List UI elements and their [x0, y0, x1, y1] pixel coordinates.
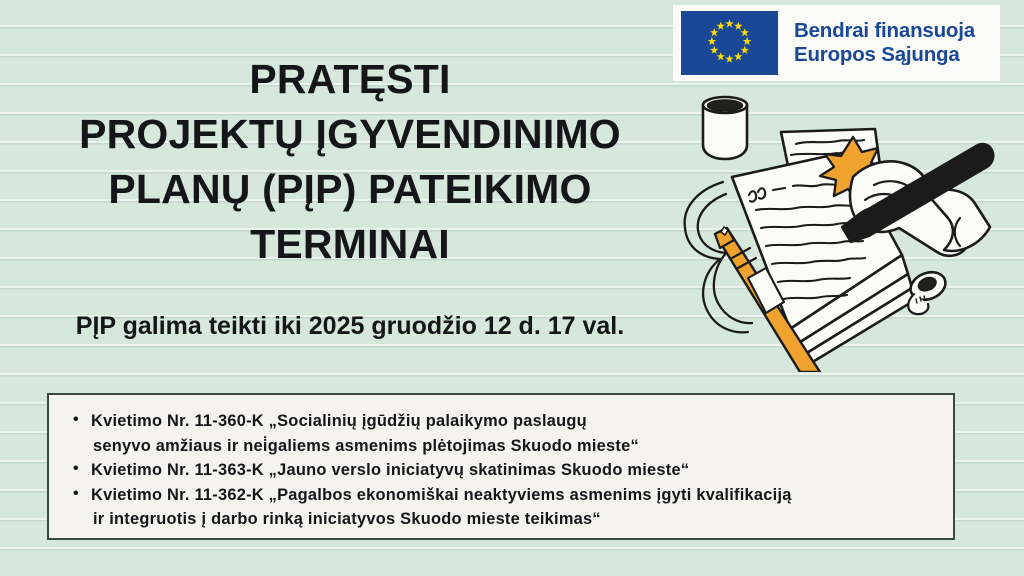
- calls-bullet-list: Kvietimo Nr. 11-360-K „Socialinių įgūdži…: [73, 409, 935, 532]
- coffee-cup-icon: [703, 97, 747, 159]
- page-title-line4: TERMINAI: [30, 217, 670, 272]
- list-item-line1: Kvietimo Nr. 11-363-K „Jauno verslo inic…: [91, 461, 689, 479]
- list-item-line2: ir integruotis į darbo rinką iniciatyvos…: [93, 507, 935, 532]
- eu-logo-text-line2: Europos Sąjunga: [794, 43, 975, 67]
- orange-pen: [715, 227, 820, 372]
- tape-measure: [906, 267, 949, 314]
- list-item: Kvietimo Nr. 11-362-K „Pagalbos ekonomiš…: [73, 483, 935, 532]
- slide-canvas: Bendrai finansuoja Europos Sąjunga PRATĘ…: [0, 0, 1024, 576]
- list-item-line1: Kvietimo Nr. 11-360-K „Socialinių įgūdži…: [91, 412, 587, 430]
- list-item: Kvietimo Nr. 11-360-K „Socialinių įgūdži…: [73, 409, 935, 458]
- eu-logo-text-line1: Bendrai finansuoja: [794, 19, 975, 43]
- page-title: PRATĘSTI PROJEKTŲ ĮGYVENDINIMO PLANŲ (PĮ…: [30, 52, 670, 272]
- open-notebook: [732, 152, 915, 366]
- calls-info-box: Kvietimo Nr. 11-360-K „Socialinių įgūdži…: [47, 393, 955, 540]
- eu-cofunded-logo: Bendrai finansuoja Europos Sąjunga: [673, 5, 1000, 81]
- paper-sheet: [781, 129, 882, 190]
- page-title-line1: PRATĘSTI: [30, 52, 670, 107]
- page-title-line3: PLANŲ (PĮP) PATEIKIMO: [30, 162, 670, 217]
- hand: [850, 161, 990, 255]
- orange-star-burst: [820, 137, 887, 202]
- hand-writing-in-notebook-illustration: [660, 82, 1024, 372]
- notebook-spiral: [685, 182, 752, 332]
- eu-logo-text: Bendrai finansuoja Europos Sąjunga: [794, 19, 975, 67]
- list-item-line1: Kvietimo Nr. 11-362-K „Pagalbos ekonomiš…: [91, 486, 792, 504]
- black-pen: [842, 144, 993, 242]
- deadline-text: PĮP galima teikti iki 2025 gruodžio 12 d…: [30, 310, 670, 342]
- eu-flag-icon: [681, 11, 778, 75]
- list-item-line2: senyvo amžiaus ir nei̇galiems asmenims p…: [93, 434, 935, 459]
- page-title-line2: PROJEKTŲ ĮGYVENDINIMO: [30, 107, 670, 162]
- list-item: Kvietimo Nr. 11-363-K „Jauno verslo inic…: [73, 458, 935, 483]
- handwriting-lines: [749, 184, 865, 299]
